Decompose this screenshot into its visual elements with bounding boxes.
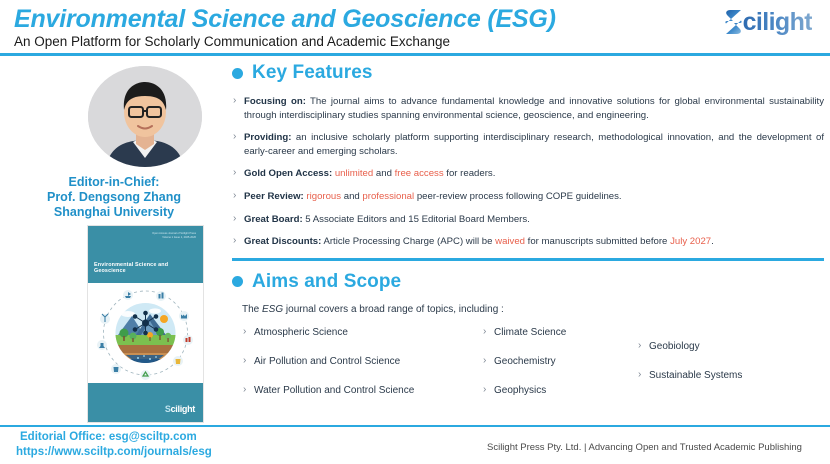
journal-website-link[interactable]: https://www.sciltp.com/journals/esg bbox=[16, 445, 212, 460]
orbit-icon-windmill bbox=[100, 314, 110, 324]
orbit-icon-recycle bbox=[141, 370, 151, 380]
orbit-icon-factory bbox=[179, 311, 189, 321]
cover-micro-text: Open Access Journal of Scilight Press Vo… bbox=[144, 232, 196, 240]
journal-title: Environmental Science and Geoscience (ES… bbox=[14, 5, 556, 34]
orbit-icon-ship bbox=[123, 290, 133, 300]
editor-affiliation: Shanghai University bbox=[0, 205, 228, 220]
left-sidebar: Editor-in-Chief: Prof. Dengsong Zhang Sh… bbox=[0, 57, 228, 427]
key-feature-text: for manuscripts submitted before bbox=[525, 236, 670, 247]
orbit-icon-city bbox=[156, 291, 166, 301]
key-feature-highlight: rigorous bbox=[306, 191, 341, 202]
cover-illustration bbox=[88, 283, 203, 383]
key-feature-text: peer-review process following COPE guide… bbox=[414, 191, 621, 202]
key-feature-text: Article Processing Charge (APC) will be bbox=[321, 236, 495, 247]
key-feature-label: Focusing on: bbox=[244, 96, 306, 107]
key-feature-item: Gold Open Access: unlimited and free acc… bbox=[232, 167, 824, 181]
scilight-wordmark: cilight bbox=[743, 9, 812, 35]
cover-micro-line-2: Volume 1 Issue 1, 2025-2026 bbox=[144, 236, 196, 240]
section-divider bbox=[232, 258, 824, 261]
scope-topic-item: Air Pollution and Control Science bbox=[242, 356, 400, 367]
publisher-tagline: Scilight Press Pty. Ltd. | Advancing Ope… bbox=[487, 442, 802, 453]
editor-name: Prof. Dengsong Zhang bbox=[0, 190, 228, 205]
key-feature-highlight: professional bbox=[362, 191, 414, 202]
key-features-list: Focusing on: The journal aims to advance… bbox=[232, 95, 824, 249]
scope-intro-emphasis: ESG bbox=[262, 304, 283, 315]
orbit-icon-trash-bin-blue bbox=[111, 364, 121, 374]
header-divider bbox=[0, 53, 830, 56]
key-feature-highlight: free access bbox=[395, 168, 444, 179]
key-feature-item: Great Discounts: Article Processing Char… bbox=[232, 235, 824, 249]
aims-and-scope-heading: Aims and Scope bbox=[232, 269, 824, 295]
scilight-logo: cilight bbox=[725, 9, 812, 35]
key-feature-highlight: unlimited bbox=[335, 168, 373, 179]
key-feature-text: an inclusive scholarly platform supporti… bbox=[244, 132, 824, 157]
footer-contact: Editorial Office: esg@sciltp.com https:/… bbox=[20, 430, 212, 460]
page-header: Environmental Science and Geoscience (ES… bbox=[0, 0, 830, 54]
cover-logo-text: cilight bbox=[171, 404, 195, 414]
main-content: Key Features Focusing on: The journal ai… bbox=[232, 60, 824, 405]
scope-topic-item: Climate Science bbox=[482, 327, 566, 338]
key-feature-text: and bbox=[373, 168, 394, 179]
scope-topic-item: Water Pollution and Control Science bbox=[242, 385, 414, 396]
editor-in-chief-block: Editor-in-Chief: Prof. Dengsong Zhang Sh… bbox=[0, 175, 228, 220]
editor-in-chief-photo bbox=[88, 66, 202, 167]
key-feature-text: The journal aims to advance fundamental … bbox=[244, 96, 824, 121]
key-feature-item: Great Board: 5 Associate Editors and 15 … bbox=[232, 213, 824, 227]
scope-topic-item: Geochemistry bbox=[482, 356, 556, 367]
journal-cover-image: Open Access Journal of Scilight Press Vo… bbox=[88, 226, 203, 422]
scope-topic-item: Sustainable Systems bbox=[637, 370, 742, 381]
orbit-icon-lab bbox=[97, 340, 107, 350]
scope-intro-after: journal covers a broad range of topics, … bbox=[283, 304, 504, 315]
key-features-title: Key Features bbox=[252, 62, 373, 84]
cover-bottom-band: Scilight bbox=[88, 383, 203, 422]
key-feature-label: Providing: bbox=[244, 132, 291, 143]
scope-topic-item: Geobiology bbox=[637, 341, 700, 352]
scope-topic-item: Atmospheric Science bbox=[242, 327, 348, 338]
key-feature-label: Great Discounts: bbox=[244, 236, 321, 247]
scilight-s-mark-icon bbox=[725, 9, 742, 35]
scope-intro-before: The bbox=[242, 304, 262, 315]
editor-role-label: Editor-in-Chief: bbox=[0, 175, 228, 190]
key-feature-text: for readers. bbox=[444, 168, 496, 179]
journal-flyer-page: Environmental Science and Geoscience (ES… bbox=[0, 0, 830, 464]
key-feature-item: Providing: an inclusive scholarly platfo… bbox=[232, 131, 824, 158]
editorial-office-email[interactable]: Editorial Office: esg@sciltp.com bbox=[20, 430, 212, 445]
orbit-icon-industry bbox=[183, 335, 193, 345]
key-feature-highlight: waived bbox=[495, 236, 525, 247]
cover-top-band: Open Access Journal of Scilight Press Vo… bbox=[88, 226, 203, 283]
cover-scilight-logo: Scilight bbox=[165, 404, 195, 414]
cover-title: Environmental Science and Geoscience bbox=[94, 262, 197, 274]
scope-topics-columns: Atmospheric ScienceAir Pollution and Con… bbox=[232, 327, 824, 405]
scope-intro-text: The ESG journal covers a broad range of … bbox=[242, 304, 824, 315]
aims-and-scope-title: Aims and Scope bbox=[252, 271, 401, 293]
key-feature-label: Great Board: bbox=[244, 214, 303, 225]
key-features-heading: Key Features bbox=[232, 60, 824, 86]
bullet-dot-icon bbox=[232, 68, 243, 79]
key-feature-item: Peer Review: rigorous and professional p… bbox=[232, 190, 824, 204]
eco-cycle-illustration-icon bbox=[88, 283, 203, 383]
bullet-dot-icon bbox=[232, 276, 243, 287]
scope-topic-item: Geophysics bbox=[482, 385, 546, 396]
orbit-icon-trash-bin-yellow bbox=[173, 356, 183, 366]
key-feature-text: . bbox=[711, 236, 714, 247]
footer-divider bbox=[0, 425, 830, 427]
key-feature-text: 5 Associate Editors and 15 Editorial Boa… bbox=[303, 214, 530, 225]
avatar-illustration-icon bbox=[88, 66, 202, 167]
key-feature-item: Focusing on: The journal aims to advance… bbox=[232, 95, 824, 122]
key-feature-highlight: July 2027 bbox=[670, 236, 711, 247]
key-feature-label: Gold Open Access: bbox=[244, 168, 332, 179]
key-feature-text: and bbox=[341, 191, 362, 202]
key-feature-label: Peer Review: bbox=[244, 191, 304, 202]
journal-subtitle: An Open Platform for Scholarly Communica… bbox=[14, 34, 450, 49]
